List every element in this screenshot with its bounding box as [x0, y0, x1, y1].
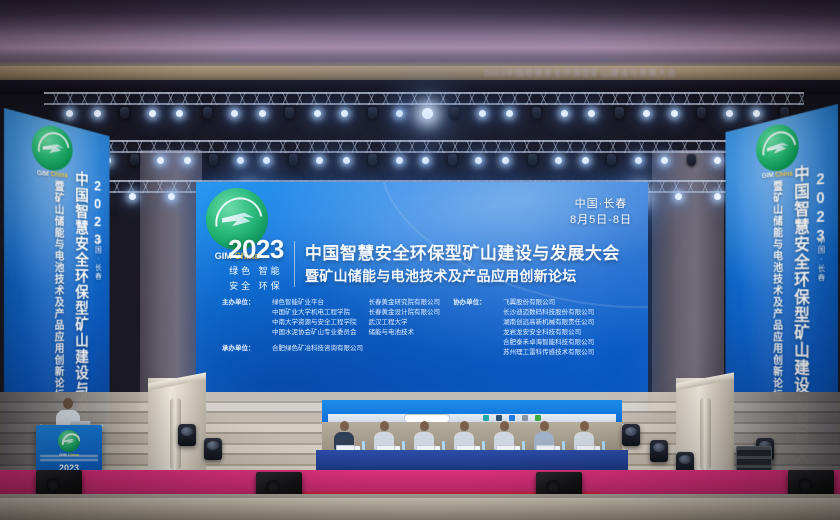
stage-lamp — [466, 157, 493, 164]
stage-lamp — [303, 110, 330, 117]
main-led-screen: GIM China 中国·长春 8月5日-8日 2023 绿色 智能 安全 环保… — [196, 182, 648, 414]
light-row-top — [56, 103, 798, 123]
gim-ring-icon — [58, 430, 80, 452]
moving-head-fixture — [193, 107, 220, 119]
speaker-head — [63, 398, 73, 409]
gim-wordmark-main: GIM — [37, 170, 49, 178]
moving-head-fixture — [598, 154, 625, 166]
light-row-middle — [68, 150, 784, 170]
gim-ring-icon — [32, 123, 73, 172]
screen-title-divider — [294, 241, 295, 287]
stage-lamp — [659, 193, 698, 200]
head-table — [322, 400, 622, 476]
screen-year-block: 2023 绿色 智能 安全 环保 — [228, 236, 284, 292]
stage-lamp — [743, 110, 770, 117]
podium-text-line-1 — [40, 455, 98, 457]
stage-lamp — [254, 157, 281, 164]
credits-host-lists: 绿色智能矿业平台中国矿业大学机电工程学院中南大学资源与安全工程学院中国水泥协会矿… — [272, 298, 440, 338]
credits-coorganizer-column: 协办单位： 飞翼股份有限公司长沙迪迈数码科技股份有限公司湖南创远高新机械有限责任… — [447, 298, 648, 358]
stage-lamp — [545, 157, 572, 164]
credits-host-item: 中南大学资源与安全工程学院 — [272, 318, 357, 328]
gim-wordmark: GIM China — [32, 169, 73, 179]
stage-lamp — [413, 157, 440, 164]
moving-head-fixture — [358, 107, 385, 119]
stage-lamp — [625, 157, 652, 164]
stage-lamp — [113, 193, 152, 200]
credits-coorganizer-label: 协办单位： — [453, 298, 503, 358]
panelist-head — [420, 421, 429, 431]
credits-host-item: 中国矿业大学机电工程学院 — [272, 308, 357, 318]
screen-titles: 中国智慧安全环保型矿山建设与发展大会 暨矿山储能与电池技术及产品应用创新论坛 — [305, 243, 620, 286]
credits-organizer-list: 合肥绿色矿冶科技咨询有限公司 — [272, 344, 363, 354]
teams-icon[interactable] — [483, 415, 489, 421]
banner-left-subtitle: 暨矿山储能与电池技术及产品应用创新论坛 — [52, 180, 66, 401]
stage-lamp — [333, 157, 360, 164]
screen-motto-line1: 绿色 智能 — [228, 265, 284, 277]
moving-head-fixture — [121, 154, 148, 166]
screen-credits: 主办单位： 绿色智能矿业平台中国矿业大学机电工程学院中南大学资源与安全工程学院中… — [196, 298, 648, 358]
credits-host-label: 主办单位： — [222, 298, 272, 338]
moving-head-fixture — [441, 107, 468, 119]
stage-lamp — [307, 157, 334, 164]
stage-lamp — [386, 157, 413, 164]
stage-lamp — [138, 110, 165, 117]
stage-lamp — [56, 110, 83, 117]
stage-lamp — [496, 110, 523, 117]
stage-lamp — [651, 157, 678, 164]
stage-lamp — [152, 193, 191, 200]
panelist-head — [340, 421, 349, 431]
moving-head-fixture — [360, 154, 387, 166]
moving-head-fixture — [523, 107, 550, 119]
panelist-head — [380, 421, 389, 431]
banner-right-location: 中国·长春 — [816, 236, 826, 282]
moving-head-fixture — [439, 154, 466, 166]
panelist-head — [500, 421, 509, 431]
stage-lamp — [83, 110, 110, 117]
stage-lamp — [386, 110, 413, 117]
balustrade-post — [700, 398, 711, 470]
credits-host-list-1: 绿色智能矿业平台中国矿业大学机电工程学院中南大学资源与安全工程学院中国水泥协会矿… — [272, 298, 357, 338]
credits-host-item: 武汉工程大学 — [369, 318, 441, 328]
gim-china-logo: GIM China — [32, 123, 73, 179]
moving-head-light-1 — [178, 424, 196, 446]
moving-head-fixture — [280, 154, 307, 166]
gim-wordmark-main: GIM — [762, 172, 774, 180]
stage-lamp — [148, 157, 175, 164]
credits-coorganizer-item: 合肥泰禾卓海智能科技有限公司 — [503, 338, 594, 348]
credits-coorganizer-row: 协办单位： 飞翼股份有限公司长沙迪迈数码科技股份有限公司湖南创远高新机械有限责任… — [453, 298, 642, 358]
moving-head-fixture — [688, 107, 715, 119]
moving-head-fixture — [111, 107, 138, 119]
credits-host-column: 主办单位： 绿色智能矿业平台中国矿业大学机电工程学院中南大学资源与安全工程学院中… — [196, 298, 447, 358]
stage-lamp — [248, 110, 275, 117]
credits-host-item: 绿色智能矿业平台 — [272, 298, 357, 308]
moving-head-light-4 — [650, 440, 668, 462]
screen-motto-line2: 安全 环保 — [228, 280, 284, 292]
panelist-head — [580, 421, 589, 431]
screen-location: 中国·长春 — [570, 196, 632, 212]
screen-title-main: 中国智慧安全环保型矿山建设与发展大会 — [305, 243, 620, 264]
secondary-led-panel — [322, 400, 622, 422]
moving-head-fixture — [201, 154, 228, 166]
panelist-head — [460, 421, 469, 431]
credits-organizer-label: 承办单位： — [222, 344, 272, 354]
credits-host-item: 长春黄金研究院有限公司 — [369, 298, 441, 308]
stage-lamp — [633, 110, 660, 117]
ceiling-banner-text: 2023中国智慧安全环保型矿山建设与发展大会 — [420, 66, 740, 80]
credits-host-item: 长春黄金设计院有限公司 — [369, 308, 441, 318]
event-stage-photo: 2023中国智慧安全环保型矿山建设与发展大会 GIM China 2023 中国… — [0, 0, 840, 520]
credits-coorganizer-item: 苏州理工雷科传感技术有限公司 — [503, 348, 594, 358]
credits-host-item: 储能与电池技术 — [369, 328, 441, 338]
stage-lamp — [551, 110, 578, 117]
stage-lamp — [227, 157, 254, 164]
credits-coorganizer-item: 龙岩龙安安全科技有限公司 — [503, 328, 594, 338]
banner-right-subtitle: 暨矿山储能与电池技术及产品应用创新论坛 — [770, 180, 784, 401]
credits-host-item: 中国水泥协会矿山专业委员会 — [272, 328, 357, 338]
moving-head-fixture — [276, 107, 303, 119]
stage-lamp — [221, 110, 248, 117]
stage-lamp — [572, 157, 599, 164]
screen-title-sub: 暨矿山储能与电池技术及产品应用创新论坛 — [305, 266, 620, 286]
moving-head-fixture — [678, 154, 705, 166]
stage-front-ledge — [0, 494, 840, 520]
screen-year: 2023 — [228, 236, 284, 262]
stage-lamp — [174, 157, 201, 164]
stage-lamp — [166, 110, 193, 117]
stage-lamp — [716, 110, 743, 117]
credits-coorganizer-lists: 飞翼股份有限公司长沙迪迈数码科技股份有限公司湖南创远高新机械有限责任公司龙岩龙安… — [503, 298, 594, 358]
stage-lamp — [578, 110, 605, 117]
screen-title-row: 2023 绿色 智能 安全 环保 中国智慧安全环保型矿山建设与发展大会 暨矿山储… — [228, 236, 620, 292]
credits-organizer-row: 承办单位： 合肥绿色矿冶科技咨询有限公司 — [222, 344, 441, 354]
stage-lamp — [413, 108, 440, 119]
stage-lamp — [492, 157, 519, 164]
podium-gim-logo: GIM China — [58, 430, 80, 457]
credits-organizer-lists: 合肥绿色矿冶科技咨询有限公司 — [272, 344, 363, 354]
screen-date-location: 中国·长春 8月5日-8日 — [570, 196, 632, 228]
banner-left-location: 中国·长春 — [94, 237, 103, 280]
credits-host-row: 主办单位： 绿色智能矿业平台中国矿业大学机电工程学院中南大学资源与安全工程学院中… — [222, 298, 441, 338]
stage-lamp — [468, 110, 495, 117]
credits-coorganizer-item: 长沙迪迈数码科技股份有限公司 — [503, 308, 594, 318]
store-icon[interactable] — [522, 415, 528, 421]
balustrade-left — [148, 378, 206, 470]
moving-head-fixture — [519, 154, 546, 166]
gim-wordmark-sub: China — [51, 171, 68, 179]
credits-coorganizer-item: 飞翼股份有限公司 — [503, 298, 594, 308]
credits-organizer-item: 合肥绿色矿冶科技咨询有限公司 — [272, 344, 363, 354]
podium-text-line-2 — [40, 459, 98, 461]
panelist-head — [540, 421, 549, 431]
credits-coorganizer-list: 飞翼股份有限公司长沙迪迈数码科技股份有限公司湖南创远高新机械有限责任公司龙岩龙安… — [503, 298, 594, 358]
credits-coorganizer-item: 湖南创远高新机械有限责任公司 — [503, 318, 594, 328]
moving-head-fixture — [606, 107, 633, 119]
stage-lamp — [661, 110, 688, 117]
screen-date-range: 8月5日-8日 — [570, 212, 632, 228]
stage-lamp — [331, 110, 358, 117]
credits-host-list-2: 长春黄金研究院有限公司长春黄金设计院有限公司武汉工程大学储能与电池技术 — [369, 298, 441, 338]
moving-head-light-3 — [622, 424, 640, 446]
moving-head-light-2 — [204, 438, 222, 460]
